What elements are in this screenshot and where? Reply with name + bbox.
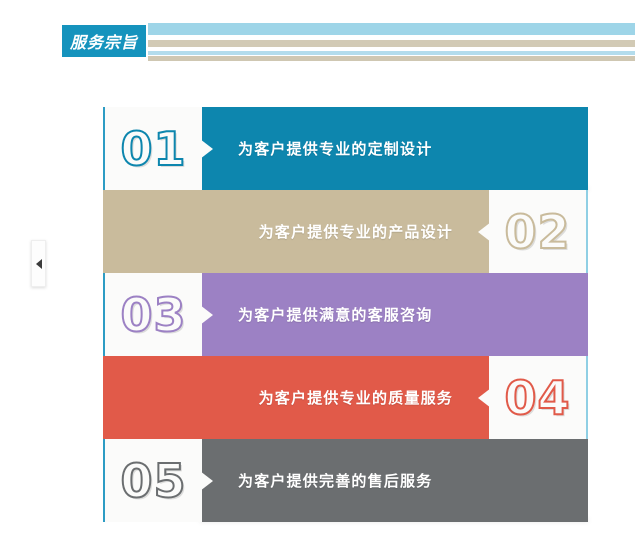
row-number: 04 (504, 375, 570, 421)
row-number-card: 03 (103, 273, 202, 356)
row-label: 为客户提供专业的产品设计 (259, 221, 453, 242)
list-item[interactable]: 为客户提供满意的客服咨询 03 (103, 273, 588, 356)
list-item[interactable]: 为客户提供专业的产品设计 02 (103, 190, 588, 273)
row-number-card: 05 (103, 439, 202, 522)
list-item[interactable]: 为客户提供专业的定制设计 01 (103, 107, 588, 190)
stripe-blue-thick (148, 23, 635, 35)
row-number-card: 02 (489, 190, 588, 273)
row-number: 01 (120, 126, 186, 172)
row-label-bar: 为客户提供满意的客服咨询 (200, 273, 588, 356)
section-title-badge: 服务宗旨 (62, 25, 146, 57)
list-item[interactable]: 为客户提供完善的售后服务 05 (103, 439, 588, 522)
row-label: 为客户提供满意的客服咨询 (238, 304, 432, 325)
stripe-tan-thin (148, 56, 635, 61)
row-number: 05 (120, 458, 186, 504)
service-list: 为客户提供专业的定制设计 01 为客户提供专业的产品设计 02 为客户提供满意的… (103, 107, 588, 532)
stripe-blue-thin (148, 51, 635, 55)
row-label: 为客户提供专业的质量服务 (259, 387, 453, 408)
arrow-notch-icon (478, 222, 491, 242)
arrow-notch-icon (200, 305, 213, 325)
row-label-bar: 为客户提供专业的产品设计 (103, 190, 491, 273)
page-header: 服务宗旨 (0, 0, 635, 92)
header-stripe-decoration (148, 18, 635, 58)
list-item[interactable]: 为客户提供专业的质量服务 04 (103, 356, 588, 439)
arrow-notch-icon (200, 139, 213, 159)
row-number-card: 04 (489, 356, 588, 439)
row-label-bar: 为客户提供专业的质量服务 (103, 356, 491, 439)
row-label-bar: 为客户提供专业的定制设计 (200, 107, 588, 190)
triangle-left-icon (36, 259, 42, 269)
carousel-prev-button[interactable] (31, 240, 46, 287)
row-label: 为客户提供专业的定制设计 (238, 138, 432, 159)
arrow-notch-icon (478, 388, 491, 408)
arrow-notch-icon (200, 471, 213, 491)
row-number-card: 01 (103, 107, 202, 190)
row-label-bar: 为客户提供完善的售后服务 (200, 439, 588, 522)
row-number: 03 (120, 292, 186, 338)
row-number: 02 (504, 209, 570, 255)
stripe-tan-thick (148, 40, 635, 47)
row-label: 为客户提供完善的售后服务 (238, 470, 432, 491)
